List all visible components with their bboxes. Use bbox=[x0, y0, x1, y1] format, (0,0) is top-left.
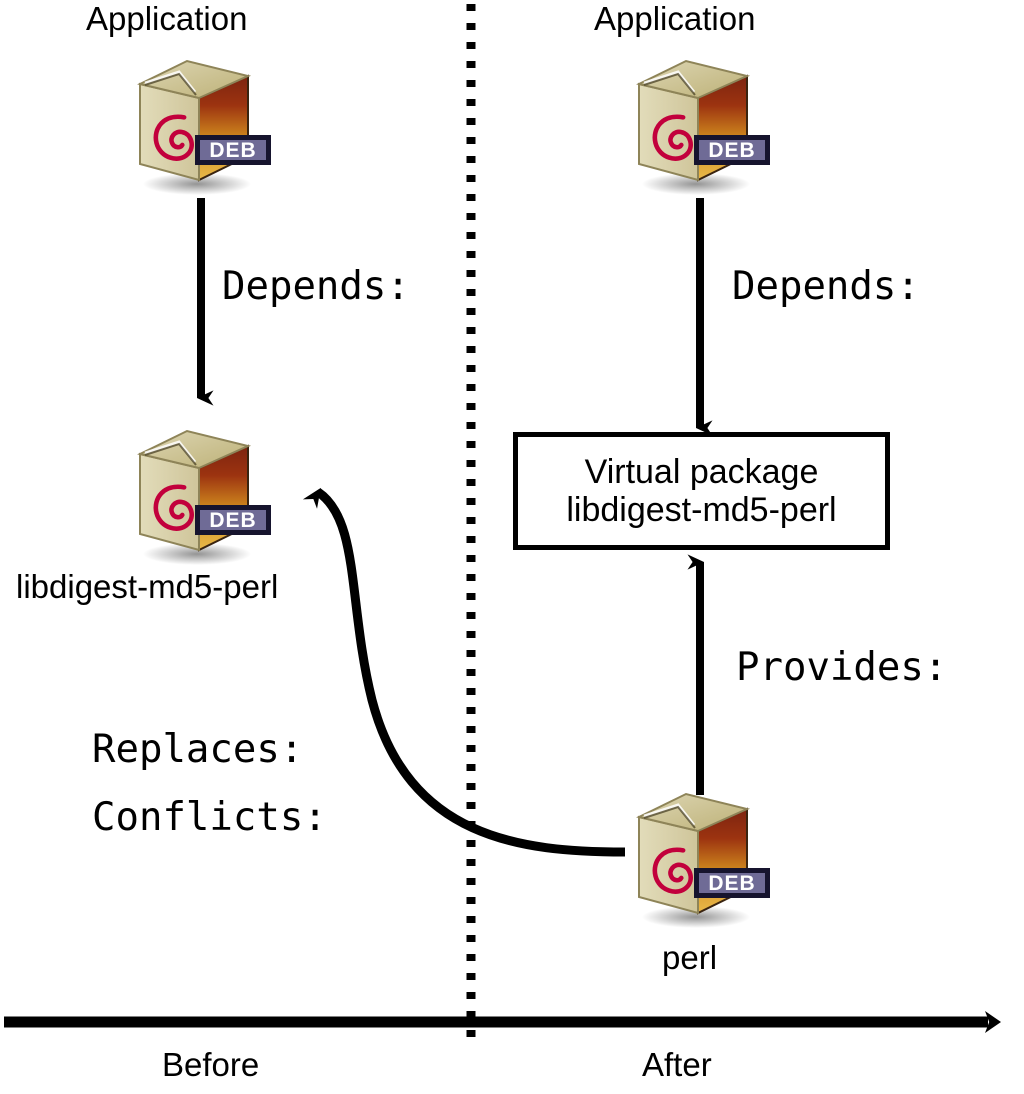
svg-text:DEB: DEB bbox=[209, 509, 256, 532]
deb-package-icon-perl: DEB bbox=[616, 785, 786, 933]
virtual-package-box: Virtual package libdigest-md5-perl bbox=[513, 432, 890, 550]
conflicts-label: Conflicts: bbox=[92, 798, 327, 837]
svg-text:DEB: DEB bbox=[209, 139, 256, 162]
libdigest-md5-perl-label: libdigest-md5-perl bbox=[16, 570, 278, 603]
deb-package-icon-libdigest-md5-perl: DEB bbox=[117, 422, 287, 570]
after-application-label: Application bbox=[594, 2, 755, 35]
virtual-package-line-2: libdigest-md5-perl bbox=[566, 491, 836, 529]
svg-text:DEB: DEB bbox=[708, 139, 755, 162]
deb-badge: DEB bbox=[195, 505, 271, 535]
provides-label: Provides: bbox=[736, 648, 947, 687]
deb-badge: DEB bbox=[694, 868, 770, 898]
deb-package-icon-before-application: DEB bbox=[117, 52, 287, 200]
timeline-after-label: After bbox=[642, 1048, 712, 1081]
svg-text:DEB: DEB bbox=[708, 872, 755, 895]
deb-badge: DEB bbox=[694, 135, 770, 165]
after-depends-label: Depends: bbox=[732, 267, 920, 306]
deb-package-icon-after-application: DEB bbox=[616, 52, 786, 200]
perl-label: perl bbox=[662, 941, 717, 974]
virtual-package-line-1: Virtual package bbox=[585, 453, 819, 491]
diagram-canvas: DEB bbox=[0, 0, 1024, 1094]
replaces-label: Replaces: bbox=[92, 730, 303, 769]
before-depends-label: Depends: bbox=[222, 267, 410, 306]
timeline-before-label: Before bbox=[162, 1048, 259, 1081]
deb-badge: DEB bbox=[195, 135, 271, 165]
before-application-label: Application bbox=[86, 2, 247, 35]
